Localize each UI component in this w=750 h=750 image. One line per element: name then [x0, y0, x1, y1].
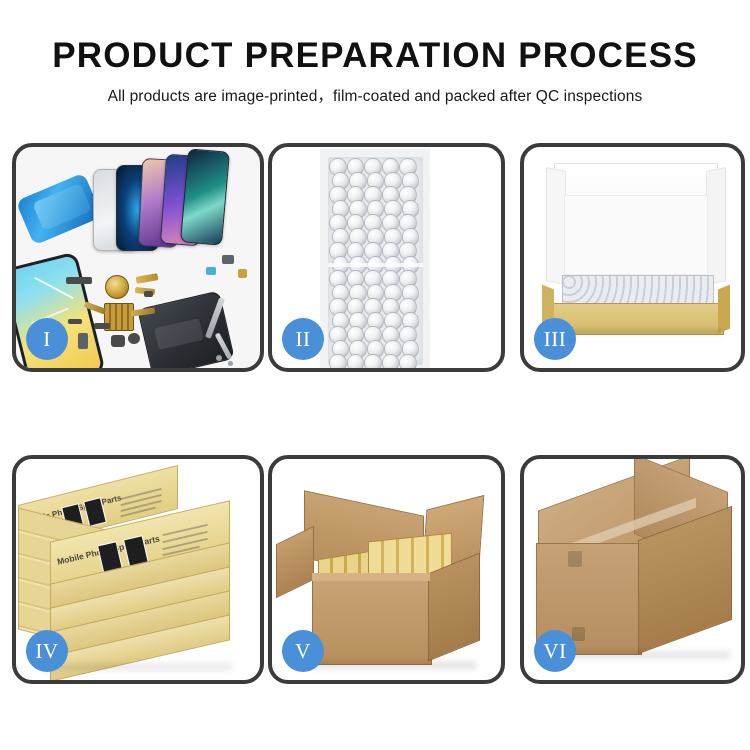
bubble-grid — [328, 157, 423, 365]
step-panel-5: V — [268, 455, 505, 684]
camera-module-part — [111, 335, 125, 347]
vibrator-part — [128, 333, 140, 344]
page-title: PRODUCT PREPARATION PROCESS — [0, 36, 750, 76]
step-panel-1: I — [12, 143, 264, 372]
ic-chip-2 — [206, 267, 216, 275]
carton-shadow — [308, 661, 476, 669]
step-badge-3: III — [534, 318, 576, 360]
carton-top-edge — [312, 573, 430, 581]
header: PRODUCT PREPARATION PROCESS All products… — [0, 0, 750, 120]
box-right-side — [718, 285, 730, 334]
box-lid-right-flap — [706, 167, 726, 285]
wireless-charging-coil — [105, 275, 129, 299]
connector-part — [144, 291, 153, 297]
carton-front-face — [312, 579, 432, 665]
bubble — [347, 354, 365, 368]
flex-cable-1 — [136, 273, 159, 284]
bubble — [364, 354, 382, 368]
speaker-part — [66, 277, 92, 284]
step-panel-4: Mobile Phone Spare Parts Mobile Phone Sp… — [12, 455, 264, 684]
wrap-seam — [328, 263, 423, 267]
step-badge-1: I — [26, 318, 68, 360]
button-part — [68, 319, 82, 324]
product-preparation-infographic: PRODUCT PREPARATION PROCESS All products… — [0, 0, 750, 750]
step-badge-6: VI — [534, 630, 576, 672]
step-badge-2: II — [282, 318, 324, 360]
step-badge-5: V — [282, 630, 324, 672]
screw-part-a — [216, 355, 222, 361]
step-panel-3: III — [520, 143, 745, 372]
bubble — [382, 354, 400, 368]
ic-chip-3 — [238, 269, 247, 278]
sim-tray-part — [94, 323, 110, 329]
bubble — [329, 354, 347, 368]
step-panel-2: II — [268, 143, 505, 372]
box-lid-left-flap — [546, 167, 566, 285]
phone-screen-5 — [180, 148, 230, 245]
bubble-wrap-sheet — [328, 157, 423, 365]
ic-chip-1 — [222, 255, 234, 264]
step-badge-4: IV — [26, 630, 68, 672]
bubble — [399, 354, 417, 368]
carton-hand-hole-bottom — [572, 627, 585, 641]
box-lid-inner-panel — [564, 195, 708, 275]
carton-hand-hole-top — [568, 551, 582, 567]
screw-part-b — [228, 361, 233, 366]
carton-flap-left — [276, 526, 314, 599]
step-panel-6: VI — [520, 455, 745, 684]
kraft-stack-shadow — [42, 663, 232, 671]
battery-part — [78, 333, 88, 349]
page-subtitle: All products are image-printed，film-coat… — [0, 84, 750, 106]
box-front-shadow — [550, 329, 722, 335]
